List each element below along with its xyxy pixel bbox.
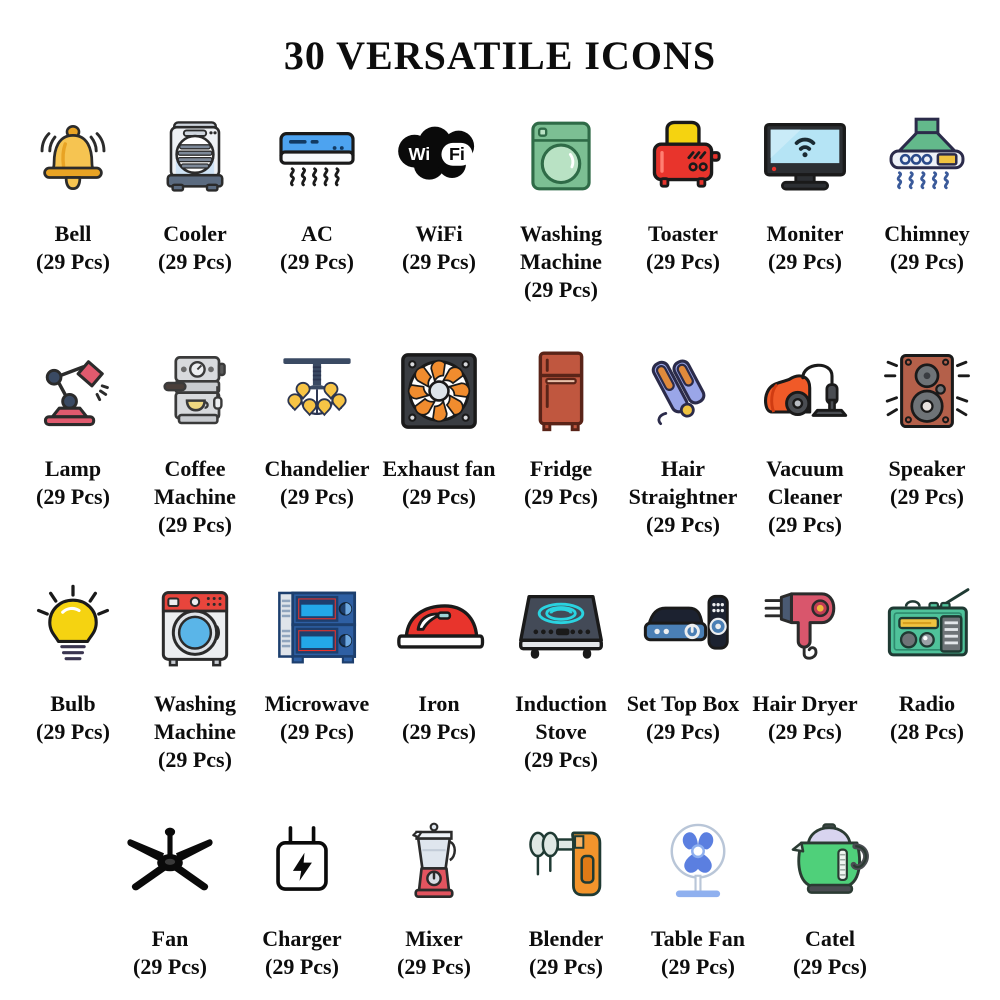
kettle-icon [775, 811, 885, 911]
washing-machine-green-icon [506, 106, 616, 206]
icon-label: Catel (29 Pcs) [770, 925, 890, 981]
icon-count: (28 Pcs) [867, 718, 987, 746]
icon-count: (29 Pcs) [770, 953, 890, 981]
icon-cell-vacuum-cleaner[interactable]: Vacuum Cleaner (29 Pcs) [746, 341, 864, 539]
icon-count: (29 Pcs) [135, 511, 255, 539]
icon-count: (29 Pcs) [501, 746, 621, 774]
icon-name: Coffee Machine [154, 456, 236, 509]
icon-cell-hair-dryer[interactable]: Hair Dryer (29 Pcs) [746, 576, 864, 746]
page-title: 30 VERSATILE ICONS [0, 0, 1000, 76]
icon-label: Table Fan (29 Pcs) [638, 925, 758, 981]
icon-name: Fridge [530, 456, 592, 481]
icon-count: (29 Pcs) [506, 953, 626, 981]
icon-label: Hair Straightner (29 Pcs) [623, 455, 743, 539]
icon-count: (29 Pcs) [135, 746, 255, 774]
icon-cell-speaker[interactable]: Speaker (29 Pcs) [868, 341, 986, 511]
icon-name: Lamp [45, 456, 101, 481]
microwave-icon [262, 576, 372, 676]
icon-cell-kettle[interactable]: Catel (29 Pcs) [768, 811, 892, 981]
icon-cell-mixer[interactable]: Mixer (29 Pcs) [372, 811, 496, 981]
icon-cell-exhaust-fan[interactable]: Exhaust fan (29 Pcs) [380, 341, 498, 511]
icon-cell-wifi[interactable]: Wi Fi WiFi (29 Pcs) [380, 106, 498, 276]
induction-stove-icon [506, 576, 616, 676]
icon-cell-iron[interactable]: Iron (29 Pcs) [380, 576, 498, 746]
icon-name: Speaker [889, 456, 966, 481]
icon-label: Mixer (29 Pcs) [374, 925, 494, 981]
icon-cell-washing-machine-green[interactable]: Washing Machine (29 Pcs) [502, 106, 620, 304]
icon-label: Fridge (29 Pcs) [501, 455, 621, 511]
speaker-icon [872, 341, 982, 441]
icon-cell-coffee-machine[interactable]: Coffee Machine (29 Pcs) [136, 341, 254, 539]
icon-count: (29 Pcs) [867, 483, 987, 511]
coffee-machine-icon [140, 341, 250, 441]
icon-count: (29 Pcs) [501, 276, 621, 304]
icon-label: Set Top Box (29 Pcs) [623, 690, 743, 746]
chimney-icon [872, 106, 982, 206]
icon-name: Blender [529, 926, 604, 951]
icon-count: (29 Pcs) [638, 953, 758, 981]
icon-cell-cooler[interactable]: Cooler (29 Pcs) [136, 106, 254, 276]
icon-count: (29 Pcs) [242, 953, 362, 981]
icon-cell-fan[interactable]: Fan (29 Pcs) [108, 811, 232, 981]
icon-count: (29 Pcs) [379, 483, 499, 511]
toaster-icon [628, 106, 738, 206]
icon-name: Washing Machine [520, 221, 602, 274]
icon-cell-induction-stove[interactable]: Induction Stove (29 Pcs) [502, 576, 620, 774]
icon-count: (29 Pcs) [745, 718, 865, 746]
icon-name: Table Fan [651, 926, 745, 951]
icon-sheet: 30 VERSATILE ICONS [0, 0, 1000, 1000]
icon-cell-washing-machine-white[interactable]: Washing Machine (29 Pcs) [136, 576, 254, 774]
icon-count: (29 Pcs) [379, 718, 499, 746]
lamp-icon [18, 341, 128, 441]
icon-count: (29 Pcs) [374, 953, 494, 981]
icon-row-3: Bulb (29 Pcs) [0, 576, 1000, 811]
icon-cell-monitor[interactable]: Moniter (29 Pcs) [746, 106, 864, 276]
icon-label: Hair Dryer (29 Pcs) [745, 690, 865, 746]
icon-label: Washing Machine (29 Pcs) [501, 220, 621, 304]
icon-name: Moniter [767, 221, 844, 246]
icon-cell-toaster[interactable]: Toaster (29 Pcs) [624, 106, 742, 276]
icon-label: Induction Stove (29 Pcs) [501, 690, 621, 774]
icon-label: Moniter (29 Pcs) [745, 220, 865, 276]
icon-count: (29 Pcs) [13, 483, 133, 511]
icon-count: (29 Pcs) [110, 953, 230, 981]
icon-name: Washing Machine [154, 691, 236, 744]
icon-name: Cooler [163, 221, 227, 246]
icon-cell-lamp[interactable]: Lamp (29 Pcs) [14, 341, 132, 511]
icon-label: Chimney (29 Pcs) [867, 220, 987, 276]
icon-label: Radio (28 Pcs) [867, 690, 987, 746]
charger-icon [247, 811, 357, 911]
icon-label: Lamp (29 Pcs) [13, 455, 133, 511]
icon-count: (29 Pcs) [501, 483, 621, 511]
icon-name: Exhaust fan [382, 456, 495, 481]
iron-icon [384, 576, 494, 676]
icon-label: Bulb (29 Pcs) [13, 690, 133, 746]
icon-label: Exhaust fan (29 Pcs) [379, 455, 499, 511]
icon-count: (29 Pcs) [13, 248, 133, 276]
icon-row-4: Fan (29 Pcs) Charger (29 Pcs) [0, 811, 1000, 991]
chandelier-icon [262, 341, 372, 441]
monitor-icon [750, 106, 860, 206]
hair-straightener-icon [628, 341, 738, 441]
icon-cell-chimney[interactable]: Chimney (29 Pcs) [868, 106, 986, 276]
icon-name: Hair Straightner [629, 456, 738, 509]
icon-row-1: Bell (29 Pcs) [0, 106, 1000, 341]
icon-name: Charger [262, 926, 341, 951]
mixer-icon [379, 811, 489, 911]
icon-count: (29 Pcs) [867, 248, 987, 276]
icon-cell-microwave[interactable]: Microwave (29 Pcs) [258, 576, 376, 746]
icon-count: (29 Pcs) [623, 511, 743, 539]
icon-label: WiFi (29 Pcs) [379, 220, 499, 276]
icon-label: Microwave (29 Pcs) [257, 690, 377, 746]
icon-name: Bulb [50, 691, 95, 716]
radio-icon [872, 576, 982, 676]
icon-label: Speaker (29 Pcs) [867, 455, 987, 511]
icon-label: Bell (29 Pcs) [13, 220, 133, 276]
icon-label: Chandelier (29 Pcs) [257, 455, 377, 511]
icon-cell-blender[interactable]: Blender (29 Pcs) [504, 811, 628, 981]
icon-name: Set Top Box [627, 691, 740, 716]
icon-label: Washing Machine (29 Pcs) [135, 690, 255, 774]
icon-name: AC [301, 221, 333, 246]
icon-name: Induction Stove [515, 691, 607, 744]
icon-count: (29 Pcs) [623, 718, 743, 746]
icon-count: (29 Pcs) [745, 248, 865, 276]
vacuum-cleaner-icon [750, 341, 860, 441]
icon-count: (29 Pcs) [623, 248, 743, 276]
icon-name: Chimney [884, 221, 970, 246]
icon-cell-hair-straightener[interactable]: Hair Straightner (29 Pcs) [624, 341, 742, 539]
icon-cell-ac[interactable]: AC (29 Pcs) [258, 106, 376, 276]
icon-count: (29 Pcs) [379, 248, 499, 276]
icon-label: Iron (29 Pcs) [379, 690, 499, 746]
icon-cell-chandelier[interactable]: Chandelier (29 Pcs) [258, 341, 376, 511]
icon-label: Vacuum Cleaner (29 Pcs) [745, 455, 865, 539]
wifi-icon: Wi Fi [384, 106, 494, 206]
icon-count: (29 Pcs) [257, 718, 377, 746]
icon-name: WiFi [415, 221, 462, 246]
icon-cell-table-fan[interactable]: Table Fan (29 Pcs) [636, 811, 760, 981]
cooler-icon [140, 106, 250, 206]
icon-name: Iron [418, 691, 459, 716]
icon-name: Hair Dryer [752, 691, 857, 716]
icon-count: (29 Pcs) [135, 248, 255, 276]
icon-count: (29 Pcs) [257, 248, 377, 276]
icon-name: Mixer [405, 926, 462, 951]
table-fan-icon [643, 811, 753, 911]
icon-cell-set-top-box[interactable]: Set Top Box (29 Pcs) [624, 576, 742, 746]
icon-label: AC (29 Pcs) [257, 220, 377, 276]
icon-name: Vacuum Cleaner [766, 456, 843, 509]
icon-cell-charger[interactable]: Charger (29 Pcs) [240, 811, 364, 981]
icon-cell-radio[interactable]: Radio (28 Pcs) [868, 576, 986, 746]
icon-label: Charger (29 Pcs) [242, 925, 362, 981]
icon-row-2: Lamp (29 Pcs) [0, 341, 1000, 576]
icon-name: Radio [899, 691, 955, 716]
hair-dryer-icon [750, 576, 860, 676]
icon-name: Toaster [648, 221, 718, 246]
icon-count: (29 Pcs) [257, 483, 377, 511]
icon-count: (29 Pcs) [745, 511, 865, 539]
svg-text:Fi: Fi [449, 144, 465, 164]
icon-label: Toaster (29 Pcs) [623, 220, 743, 276]
icon-label: Fan (29 Pcs) [110, 925, 230, 981]
icon-label: Coffee Machine (29 Pcs) [135, 455, 255, 539]
fridge-icon [506, 341, 616, 441]
ac-icon [262, 106, 372, 206]
icon-name: Microwave [265, 691, 370, 716]
icon-grid: Bell (29 Pcs) [0, 106, 1000, 991]
svg-text:Wi: Wi [409, 144, 431, 164]
blender-icon [511, 811, 621, 911]
washing-machine-white-icon [140, 576, 250, 676]
icon-name: Bell [55, 221, 92, 246]
icon-name: Fan [152, 926, 189, 951]
ceiling-fan-icon [115, 811, 225, 911]
icon-label: Cooler (29 Pcs) [135, 220, 255, 276]
icon-name: Chandelier [264, 456, 369, 481]
set-top-box-icon [628, 576, 738, 676]
icon-cell-fridge[interactable]: Fridge (29 Pcs) [502, 341, 620, 511]
icon-cell-bell[interactable]: Bell (29 Pcs) [14, 106, 132, 276]
bulb-icon [18, 576, 128, 676]
icon-label: Blender (29 Pcs) [506, 925, 626, 981]
icon-count: (29 Pcs) [13, 718, 133, 746]
icon-name: Catel [805, 926, 855, 951]
exhaust-fan-icon [384, 341, 494, 441]
icon-cell-bulb[interactable]: Bulb (29 Pcs) [14, 576, 132, 746]
bell-icon [18, 106, 128, 206]
